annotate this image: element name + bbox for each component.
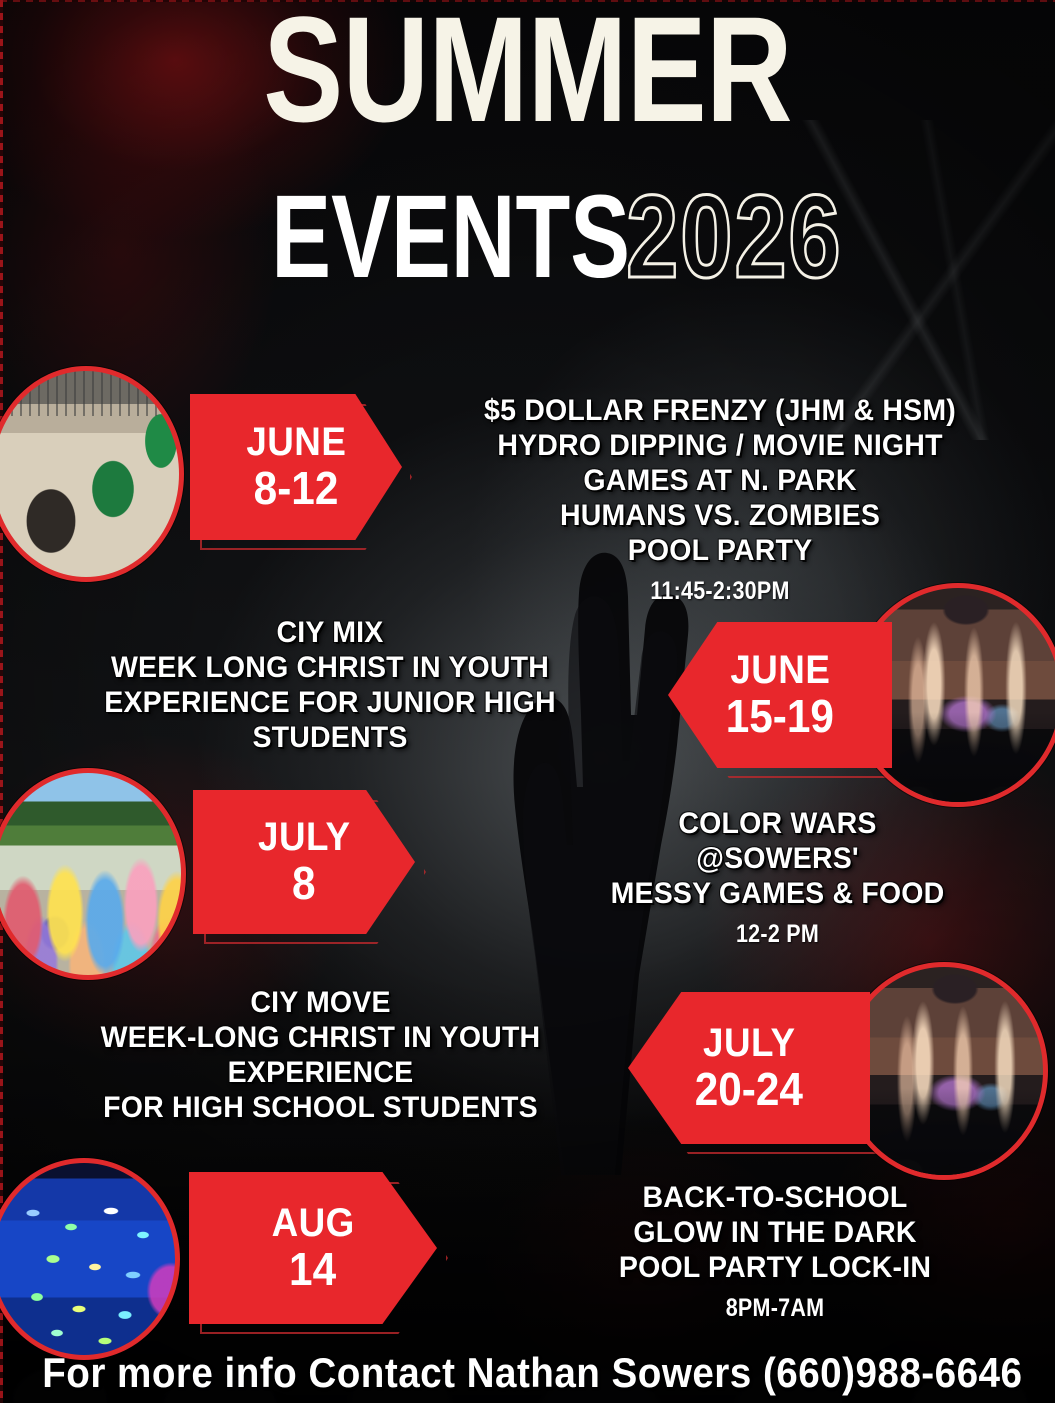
badge-month: JUNE [730, 651, 830, 690]
event-line: $5 DOLLAR FRENZY (JHM & HSM) [407, 393, 1034, 428]
event-line: EXPERIENCE FOR JUNIOR HIGH [26, 685, 634, 720]
event-line: MESSY GAMES & FOOD [519, 876, 1037, 911]
title-events: EVENTS [271, 178, 630, 296]
event-line: FOR HIGH SCHOOL STUDENTS [24, 1090, 618, 1125]
event-line: EXPERIENCE [24, 1055, 618, 1090]
event-line: CIY MOVE [24, 985, 618, 1020]
event-time: 12-2 PM [543, 920, 1012, 948]
badge-month: AUG [271, 1204, 354, 1243]
event-line: GAMES AT N. PARK [407, 463, 1034, 498]
event-line: HUMANS VS. ZOMBIES [407, 498, 1034, 533]
badge-day: 8 [292, 861, 316, 906]
event-text-june-8-12: $5 DOLLAR FRENZY (JHM & HSM) HYDRO DIPPI… [390, 393, 1050, 605]
event-text-aug-14: BACK-TO-SCHOOL GLOW IN THE DARK POOL PAR… [500, 1180, 1050, 1322]
badge-day: 20-24 [695, 1067, 803, 1112]
event-text-july-8: COLOR WARS @SOWERS' MESSY GAMES & FOOD 1… [505, 806, 1050, 948]
title-summer: SUMMER [106, 0, 950, 144]
badge-month: JULY [258, 818, 351, 857]
summer-events-poster: SUMMER EVENTS 2026 JUNE 8-12 $5 DOLLAR F… [0, 0, 1055, 1403]
poster-title: SUMMER EVENTS 2026 [0, 0, 1055, 350]
event-line: STUDENTS [26, 720, 634, 755]
event-line: BACK-TO-SCHOOL [514, 1180, 1037, 1215]
badge-month: JUNE [246, 423, 346, 462]
event-text-june-15-19: CIY MIX WEEK LONG CHRIST IN YOUTH EXPERI… [10, 615, 650, 755]
event-line: @SOWERS' [519, 841, 1037, 876]
event-line: WEEK-LONG CHRIST IN YOUTH [24, 1020, 618, 1055]
event-line: GLOW IN THE DARK [514, 1215, 1037, 1250]
event-photo-july-20-24 [840, 962, 1048, 1180]
event-line: POOL PARTY [407, 533, 1034, 568]
contact-footer: For more info Contact Nathan Sowers (660… [42, 1349, 1013, 1397]
event-line: HYDRO DIPPING / MOVIE NIGHT [407, 428, 1034, 463]
event-text-july-20-24: CIY MOVE WEEK-LONG CHRIST IN YOUTH EXPER… [8, 985, 633, 1125]
title-year: 2026 [626, 178, 842, 296]
badge-day: 8-12 [254, 466, 339, 511]
event-line: WEEK LONG CHRIST IN YOUTH [26, 650, 634, 685]
event-line: CIY MIX [26, 615, 634, 650]
event-time: 8PM-7AM [539, 1294, 1012, 1322]
badge-day: 15-19 [726, 694, 834, 739]
event-line: POOL PARTY LOCK-IN [514, 1250, 1037, 1285]
badge-day: 14 [289, 1247, 336, 1292]
badge-month: JULY [703, 1024, 796, 1063]
event-line: COLOR WARS [519, 806, 1037, 841]
